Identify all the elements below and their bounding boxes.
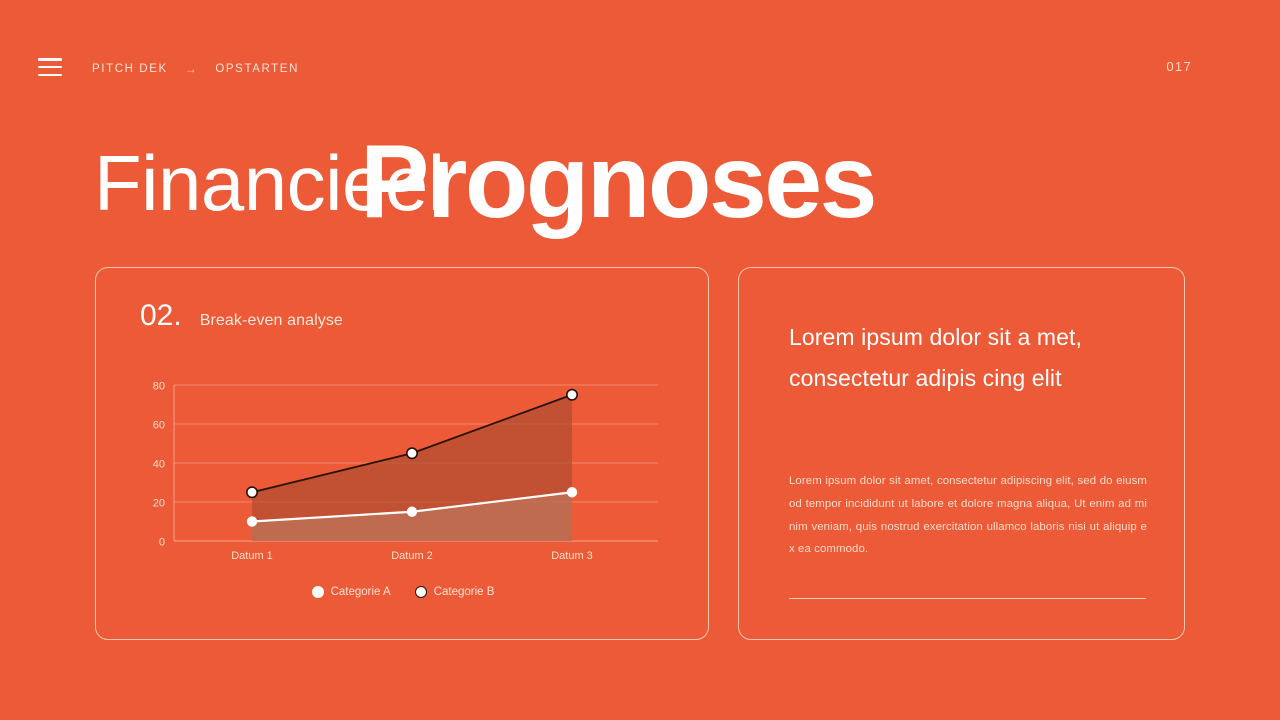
- chart-legend: Categorie A Categorie B: [96, 586, 710, 598]
- hamburger-icon[interactable]: [38, 58, 62, 76]
- description-divider: [789, 598, 1146, 599]
- page-title-bold: Prognoses: [360, 128, 875, 237]
- svg-text:Datum 1: Datum 1: [231, 550, 273, 562]
- svg-text:20: 20: [153, 498, 165, 510]
- legend-item-categorie-b[interactable]: Categorie B: [415, 586, 495, 598]
- svg-text:80: 80: [153, 381, 165, 393]
- legend-label-a: Categorie A: [331, 586, 391, 598]
- legend-label-b: Categorie B: [434, 586, 495, 598]
- description-card: Lorem ipsum dolor sit a met, consectetur…: [738, 267, 1185, 640]
- svg-text:40: 40: [153, 459, 165, 471]
- break-even-area-chart: 020406080Datum 1Datum 2Datum 3: [136, 373, 666, 573]
- chart-subtitle: Break-even analyse: [200, 312, 343, 330]
- breadcrumb: PITCH DEK → OPSTARTEN: [92, 62, 299, 76]
- hamburger-bar-1: [38, 58, 62, 61]
- legend-item-categorie-a[interactable]: Categorie A: [312, 586, 391, 598]
- chart-card: 02. Break-even analyse 020406080Datum 1D…: [95, 267, 709, 640]
- page-header: PITCH DEK → OPSTARTEN 017: [0, 0, 1280, 120]
- description-body: Lorem ipsum dolor sit amet, consectetur …: [789, 470, 1147, 561]
- arrow-right-icon: →: [182, 62, 202, 76]
- chart-card-header: 02. Break-even analyse: [140, 301, 343, 331]
- hamburger-bar-2: [38, 66, 62, 69]
- legend-dot-icon-a: [312, 586, 324, 598]
- page-title: Financieel Prognoses: [94, 128, 1094, 238]
- page-number: 017: [1166, 59, 1192, 74]
- breadcrumb-current[interactable]: OPSTARTEN: [215, 63, 299, 75]
- svg-text:Datum 3: Datum 3: [551, 550, 593, 562]
- svg-text:Datum 2: Datum 2: [391, 550, 433, 562]
- svg-text:0: 0: [159, 537, 165, 549]
- svg-text:60: 60: [153, 420, 165, 432]
- breadcrumb-root[interactable]: PITCH DEK: [92, 63, 168, 75]
- chart-index-number: 02.: [140, 301, 182, 331]
- hamburger-bar-3: [38, 74, 62, 77]
- legend-dot-icon-b: [415, 586, 427, 598]
- description-heading: Lorem ipsum dolor sit a met, consectetur…: [789, 317, 1099, 399]
- chart-svg: 020406080Datum 1Datum 2Datum 3: [136, 373, 666, 573]
